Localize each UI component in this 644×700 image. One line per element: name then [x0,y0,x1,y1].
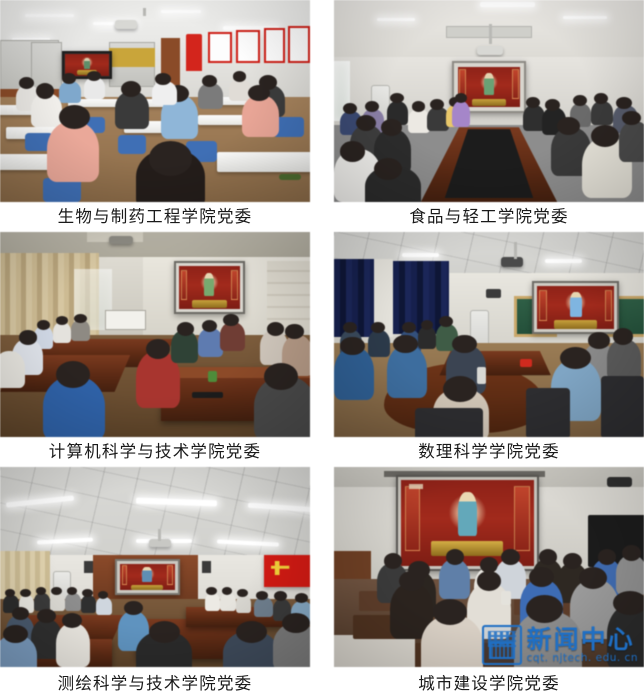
photo-gallery-grid: 生物与制药工程学院党委 [0,0,644,700]
photo-3[interactable] [0,232,310,437]
photo-4[interactable] [334,232,644,437]
photo-3-caption: 计算机科学与技术学院党委 [0,437,310,467]
photo-5-caption: 测绘科学与技术学院党委 [0,667,310,700]
photo-1-caption: 生物与制药工程学院党委 [0,202,310,232]
photo-1[interactable] [0,0,310,202]
photo-4-caption: 数理科学学院党委 [334,437,644,467]
gallery-item-6[interactable]: 新闻中心 cqt. njtech. edu. cn 城市建设学院党委 [334,467,644,700]
photo-2[interactable] [334,0,644,202]
gallery-item-2[interactable]: 食品与轻工学院党委 [334,0,644,232]
hammer-sickle-emblem [271,561,292,576]
gallery-item-4[interactable]: 数理科学学院党委 [334,232,644,467]
photo-6[interactable]: 新闻中心 cqt. njtech. edu. cn [334,467,644,667]
gallery-item-5[interactable]: 测绘科学与技术学院党委 [0,467,310,700]
gallery-item-1[interactable]: 生物与制药工程学院党委 [0,0,310,232]
photo-5[interactable] [0,467,310,667]
gallery-item-3[interactable]: 计算机科学与技术学院党委 [0,232,310,467]
photo-6-caption: 城市建设学院党委 [334,667,644,700]
photo-2-caption: 食品与轻工学院党委 [334,202,644,232]
